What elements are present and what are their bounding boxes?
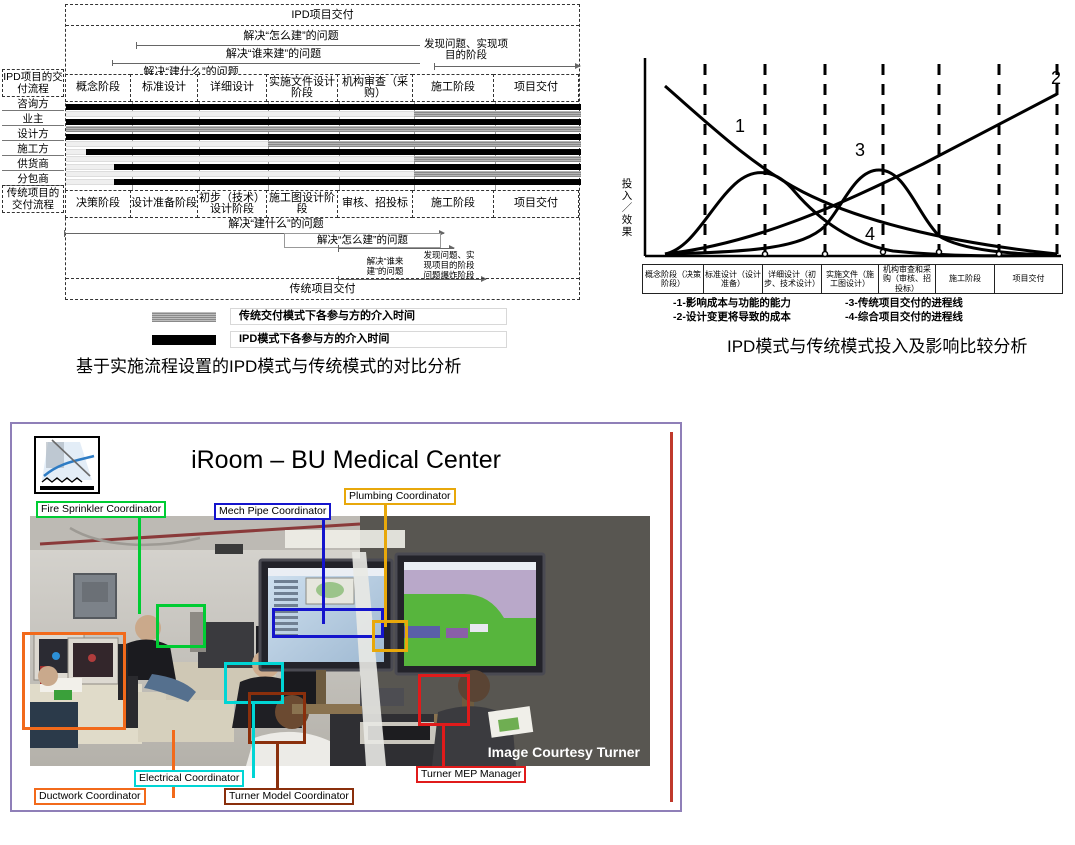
- participant-gantt-area: [66, 102, 579, 190]
- axis-cell: 项目交付: [994, 264, 1063, 294]
- tag-electrical-coordinator: Electrical Coordinator: [134, 770, 244, 787]
- row-label-consultant: 咨询方: [2, 99, 64, 111]
- row-label-owner: 业主: [2, 114, 64, 126]
- chart-legend-entry-2: -2-设计变更将导致的成本: [673, 310, 845, 324]
- trad-stage-cell: 决策阶段: [65, 190, 131, 218]
- ipd-stage-cell: 项目交付: [493, 74, 579, 102]
- slide-accent-bar: [670, 432, 673, 802]
- ipd-vs-traditional-diagram: IPD项目交付 解决“怎么建”的问题 解决“谁来建”的问题 解决“建什么”的问题…: [65, 4, 580, 300]
- chart-legend-entry-4: -4-综合项目交付的进程线: [845, 310, 963, 324]
- left-figure-legend: 传统交付模式下各参与方的介入时间 IPD模式下各参与方的介入时间: [152, 308, 507, 354]
- ipd-stage-cell: 施工阶段: [412, 74, 494, 102]
- axis-cell: 详细设计（初步、技术设计）: [762, 264, 822, 294]
- facebox-ductwork: [22, 632, 126, 730]
- image-courtesy-label: Image Courtesy Turner: [488, 744, 640, 760]
- curve-label-1: 1: [735, 116, 745, 137]
- legend-label-ipd: IPD模式下各参与方的介入时间: [230, 331, 507, 348]
- row-header-ipd-process: IPD项目的交付流程: [2, 69, 64, 97]
- span-arrow-how-to-build: [136, 45, 436, 46]
- ipd-cost-influence-chart: 投入／效果: [615, 58, 1063, 294]
- ipd-stage-header-row: 概念阶段 标准设计 详细设计 实施文件设计阶段 机构审查（采购） 施工阶段 项目…: [66, 74, 579, 102]
- left-figure-caption: 基于实施流程设置的IPD模式与传统模式的对比分析: [76, 352, 461, 377]
- trad-stage-cell: 施工阶段: [412, 190, 494, 218]
- chart-legend-entry-3: -3-传统项目交付的进程线: [845, 296, 963, 310]
- gantt-row-subcontractor: [66, 102, 579, 190]
- axis-cell: 施工阶段: [935, 264, 995, 294]
- note-who-builds-trad: 解决“谁来建”的问题: [356, 253, 414, 279]
- tag-ductwork-coordinator: Ductwork Coordinator: [34, 788, 146, 805]
- tag-turner-model-coordinator: Turner Model Coordinator: [224, 788, 354, 805]
- legend-row-traditional: 传统交付模式下各参与方的介入时间: [152, 308, 507, 325]
- span-arrow-who-builds: [112, 63, 436, 64]
- trad-stage-cell: 审核、招投标: [337, 190, 413, 218]
- span-label-what-to-build-trad: 解决“建什么”的问题: [186, 218, 366, 231]
- right-figure: 投入／效果: [595, 0, 1075, 390]
- chart-legend: -1-影响成本与功能的能力 -3-传统项目交付的进程线 -2-设计变更将导致的成…: [673, 296, 1003, 324]
- left-figure: IPD项目交付 解决“怎么建”的问题 解决“谁来建”的问题 解决“建什么”的问题…: [0, 0, 590, 390]
- trad-stage-cell: 设计准备阶段: [130, 190, 198, 218]
- row-header-traditional-process: 传统项目的交付流程: [2, 185, 64, 213]
- trad-stage-cell: 施工图设计阶段: [266, 190, 338, 218]
- tag-mech-pipe-coordinator: Mech Pipe Coordinator: [214, 503, 331, 520]
- curve-label-2: 2: [1051, 68, 1061, 89]
- ipd-stage-cell: 实施文件设计阶段: [266, 74, 338, 102]
- trad-stage-cell: 项目交付: [493, 190, 579, 218]
- ipd-stage-cell: 标准设计: [130, 74, 198, 102]
- tag-turner-mep-manager: Turner MEP Manager: [416, 766, 526, 783]
- chart-plot-area: 1 2 3 4: [643, 58, 1063, 264]
- traditional-delivery-band: 传统项目交付: [66, 278, 579, 299]
- chart-legend-row: -1-影响成本与功能的能力 -3-传统项目交付的进程线: [673, 296, 1003, 310]
- tag-plumbing-coordinator: Plumbing Coordinator: [344, 488, 456, 505]
- legend-label-traditional: 传统交付模式下各参与方的介入时间: [230, 308, 507, 325]
- legend-row-ipd: IPD模式下各参与方的介入时间: [152, 331, 507, 348]
- span-label-how-to-build: 解决“怎么建”的问题: [186, 30, 396, 43]
- facebox-mep-manager: [418, 674, 470, 726]
- span-label-who-builds: 解决“谁来建”的问题: [166, 48, 381, 61]
- axis-cell: 机构审查和采购（审核、招投标）: [878, 264, 936, 294]
- curve-label-3: 3: [855, 140, 865, 161]
- note-how-to-build-trad: 解决“怎么建”的问题: [284, 233, 441, 248]
- chart-x-axis-labels: 概念阶段（决策阶段） 标准设计（设计准备） 详细设计（初步、技术设计） 实施文件…: [643, 264, 1063, 294]
- row-label-designer: 设计方: [2, 129, 64, 141]
- iroom-slide: iRoom – BU Medical Center Fire Sprinkler…: [10, 422, 682, 812]
- axis-cell: 标准设计（设计准备）: [703, 264, 763, 294]
- axis-cell: 概念阶段（决策阶段）: [642, 264, 704, 294]
- tag-fire-sprinkler-coordinator: Fire Sprinkler Coordinator: [36, 501, 166, 518]
- curve-label-4: 4: [865, 224, 875, 245]
- slide-title: iRoom – BU Medical Center: [12, 446, 680, 475]
- chart-legend-row: -2-设计变更将导致的成本 -4-综合项目交付的进程线: [673, 310, 1003, 324]
- row-label-contractor: 施工方: [2, 144, 64, 156]
- span-arrow-realize-top: [434, 66, 580, 67]
- facebox-mech-pipe: [272, 608, 384, 638]
- trad-stage-cell: 初步（技术）设计阶段: [197, 190, 267, 218]
- ipd-stage-cell: 详细设计: [197, 74, 267, 102]
- note-problem-explosion-trad: 发现问题、实现项目的阶段问题爆炸阶段: [418, 249, 480, 281]
- chart-svg: [643, 58, 1063, 264]
- ipd-stage-cell: 概念阶段: [65, 74, 131, 102]
- row-label-supplier: 供货商: [2, 159, 64, 171]
- facebox-plumbing: [372, 620, 408, 652]
- right-figure-caption: IPD模式与传统模式投入及影响比较分析: [727, 332, 1027, 357]
- facebox-turner-model: [248, 692, 306, 744]
- ipd-stage-cell: 机构审查（采购）: [337, 74, 413, 102]
- chart-y-axis-label: 投入／效果: [619, 178, 635, 238]
- axis-cell: 实施文件（施工图设计）: [821, 264, 879, 294]
- legend-swatch-ipd: [152, 335, 216, 345]
- ipd-delivery-band: IPD项目交付: [66, 5, 579, 26]
- facebox-fire-sprinkler: [156, 604, 206, 648]
- legend-swatch-traditional: [152, 312, 216, 322]
- chart-legend-entry-1: -1-影响成本与功能的能力: [673, 296, 845, 310]
- traditional-stage-header-row: 决策阶段 设计准备阶段 初步（技术）设计阶段 施工图设计阶段 审核、招投标 施工…: [66, 190, 579, 218]
